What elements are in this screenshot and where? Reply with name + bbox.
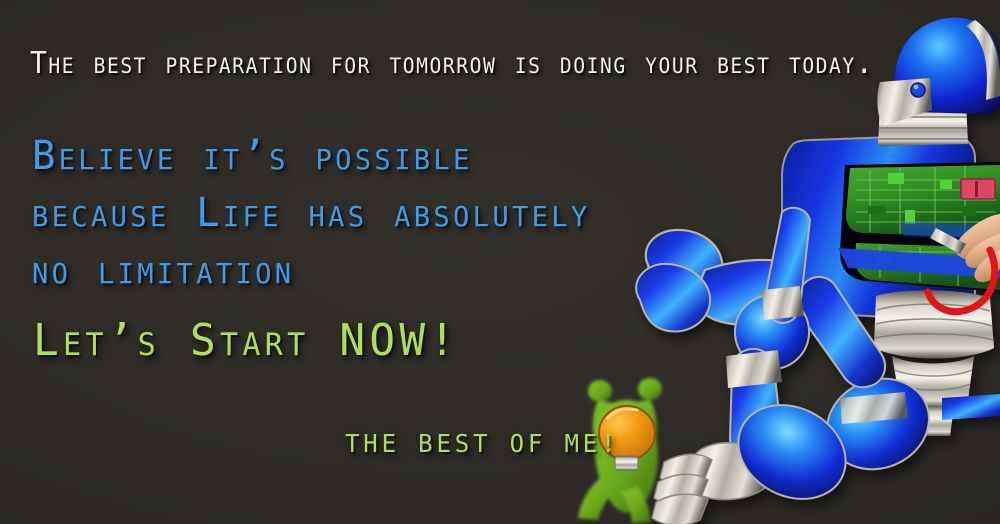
poster-canvas: The best preparation for tomorrow is doi… [0,0,1000,524]
headline-text: The best preparation for tomorrow is doi… [30,49,874,79]
message-line-2: because Life has absolutely [32,193,591,233]
robot-head [877,18,1000,126]
signature-text: THE BEST OF ME! [345,431,619,456]
robot [636,18,1000,524]
call-to-action-text: Let’s Start NOW! [33,319,459,363]
message-line-3: no limitation [32,250,294,290]
message-line-1: Believe it’s possible [32,136,473,176]
